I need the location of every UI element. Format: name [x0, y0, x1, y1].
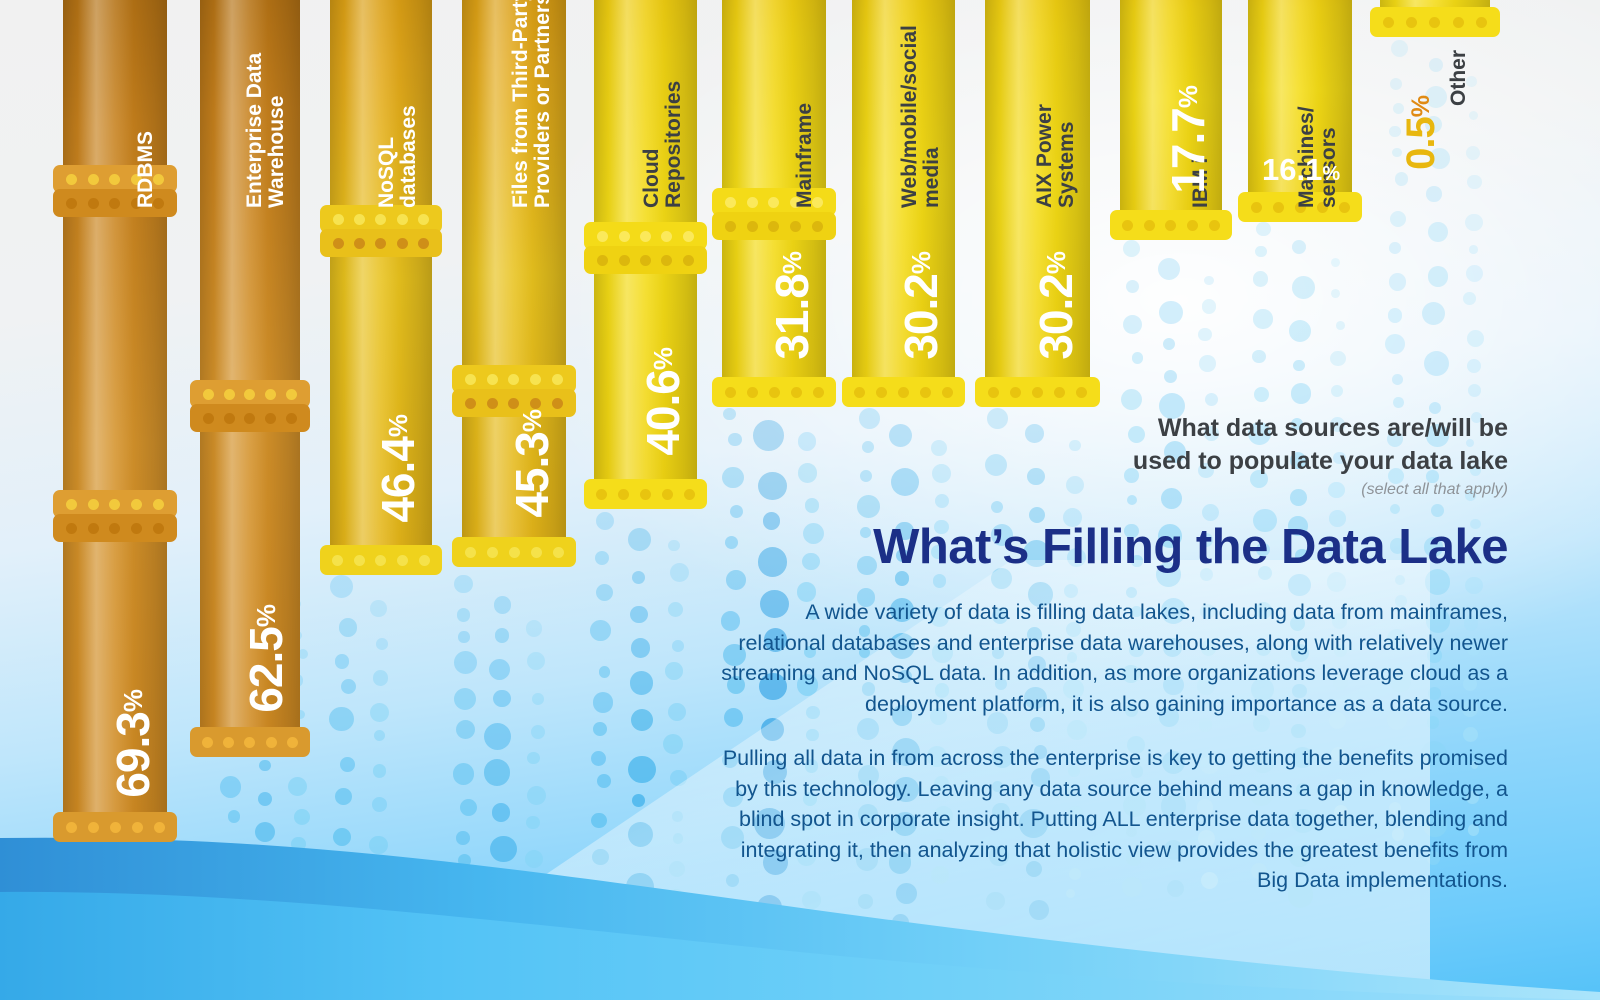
collar-rivet — [265, 389, 276, 400]
flange-rivet — [1032, 387, 1043, 398]
collar-rivet — [286, 413, 297, 424]
collar-rivet — [619, 255, 630, 266]
collar-ring-lower — [584, 246, 707, 274]
flange-rivet — [1076, 387, 1087, 398]
collar-rivet — [88, 174, 99, 185]
collar-rivet — [203, 413, 214, 424]
flange-rivet — [898, 387, 909, 398]
flange-rivet — [791, 387, 802, 398]
collar-rivet — [683, 231, 694, 242]
flange-rivet — [1144, 220, 1155, 231]
collar-rivet — [88, 198, 99, 209]
flange-rivet — [1383, 17, 1394, 28]
kicker-line-1: What data sources are/will be — [718, 412, 1508, 445]
collar-rivet — [747, 197, 758, 208]
collar-rivet — [661, 255, 672, 266]
collar-rivet — [530, 398, 541, 409]
pipe-label-name: Enterprise Data Warehouse — [244, 18, 288, 208]
collar-rivet — [153, 499, 164, 510]
flange-rivet — [110, 822, 121, 833]
body-paragraph-1: A wide variety of data is filling data l… — [718, 597, 1508, 719]
collar-rivet — [725, 221, 736, 232]
flange-rivet — [1273, 202, 1284, 213]
flange-rivet — [332, 555, 343, 566]
collar-rivet — [66, 523, 77, 534]
collar-rivet — [109, 499, 120, 510]
collar-rivet — [109, 174, 120, 185]
pipe-label-value: 17.7% — [1164, 86, 1212, 194]
pipe-end-flange — [190, 727, 310, 757]
collar-rivet — [265, 413, 276, 424]
collar-rivet — [747, 221, 758, 232]
pipe-joint-collar — [190, 380, 310, 432]
flange-rivet — [509, 547, 520, 558]
collar-rivet — [508, 374, 519, 385]
pipe-end-flange — [975, 377, 1100, 407]
pipe-end-flange — [712, 377, 836, 407]
flange-rivet — [553, 547, 564, 558]
collar-rivet — [465, 374, 476, 385]
flange-rivet — [531, 547, 542, 558]
pipe-label-value: 30.2% — [897, 252, 945, 360]
collar-ring-lower — [53, 514, 177, 542]
collar-rivet — [333, 214, 344, 225]
collar-rivet — [354, 214, 365, 225]
collar-rivet — [88, 523, 99, 534]
collar-rivet — [640, 255, 651, 266]
flange-rivet — [88, 822, 99, 833]
collar-ring-lower — [190, 404, 310, 432]
flange-rivet — [354, 555, 365, 566]
collar-rivet — [131, 523, 142, 534]
flange-rivet — [1476, 17, 1487, 28]
flange-rivet — [596, 489, 607, 500]
collar-rivet — [286, 389, 297, 400]
pipe-label-value: 69.3% — [109, 690, 157, 798]
collar-rivet — [597, 255, 608, 266]
pipe-end-flange — [584, 479, 707, 509]
flange-rivet — [1054, 387, 1065, 398]
pipe-joint-collar — [584, 222, 707, 274]
pipe-label-name: Web/mobile/social media — [899, 18, 943, 208]
copy-block: What data sources are/will be used to po… — [718, 412, 1508, 896]
flange-rivet — [244, 737, 255, 748]
pipe-label-value: 46.4% — [374, 415, 422, 523]
collar-rivet — [397, 238, 408, 249]
flange-rivet — [662, 489, 673, 500]
pipe-joint-collar — [53, 490, 177, 542]
collar-rivet — [224, 413, 235, 424]
collar-rivet — [375, 238, 386, 249]
body-paragraph-2: Pulling all data in from across the ente… — [718, 743, 1508, 896]
flange-rivet — [465, 547, 476, 558]
pipe-end-flange — [53, 812, 177, 842]
pipe-label-value: 62.5% — [242, 605, 290, 713]
flange-rivet — [684, 489, 695, 500]
collar-rivet — [66, 174, 77, 185]
pipe-label-value: 31.8% — [768, 252, 816, 360]
flange-rivet — [1122, 220, 1133, 231]
collar-rivet — [552, 374, 563, 385]
pipe-label-name: Cloud Repositories — [641, 18, 685, 208]
pipe-end-flange — [452, 537, 576, 567]
collar-ring-lower — [712, 212, 836, 240]
flange-rivet — [1165, 220, 1176, 231]
flange-rivet — [132, 822, 143, 833]
infographic-canvas: What data sources are/will be used to po… — [0, 0, 1600, 1000]
flange-rivet — [397, 555, 408, 566]
flange-rivet — [920, 387, 931, 398]
flange-rivet — [154, 822, 165, 833]
collar-rivet — [530, 374, 541, 385]
pipe-label-value: 30.2% — [1032, 252, 1080, 360]
flange-rivet — [725, 387, 736, 398]
flange-rivet — [1010, 387, 1021, 398]
pipe-label-value: 16.1% — [1262, 152, 1340, 188]
pipe-label-value: 0.5% — [1400, 96, 1442, 170]
flange-rivet — [988, 387, 999, 398]
flange-rivet — [1251, 202, 1262, 213]
pipe-label-value: 40.6% — [639, 348, 687, 456]
collar-rivet — [487, 398, 498, 409]
page-title: What’s Filling the Data Lake — [718, 519, 1508, 575]
flange-rivet — [1339, 202, 1350, 213]
pipe-joint-collar — [53, 165, 177, 217]
collar-rivet — [768, 221, 779, 232]
kicker-line-2: used to populate your data lake — [718, 445, 1508, 478]
pipe-end-flange — [320, 545, 442, 575]
collar-rivet — [725, 197, 736, 208]
pipe-label-name: NoSQL databases — [376, 18, 420, 208]
collar-rivet — [640, 231, 651, 242]
collar-rivet — [619, 231, 630, 242]
collar-rivet — [418, 214, 429, 225]
pipe-joint-collar — [712, 188, 836, 240]
flange-rivet — [66, 822, 77, 833]
collar-rivet — [244, 413, 255, 424]
flange-rivet — [375, 555, 386, 566]
collar-rivet — [465, 398, 476, 409]
flange-rivet — [487, 547, 498, 558]
flange-rivet — [1209, 220, 1220, 231]
collar-rivet — [597, 231, 608, 242]
kicker-note: (select all that apply) — [718, 481, 1508, 499]
flange-rivet — [747, 387, 758, 398]
collar-rivet — [109, 523, 120, 534]
flange-rivet — [1406, 17, 1417, 28]
collar-rivet — [418, 238, 429, 249]
pipe-label-name: Other — [1448, 26, 1470, 106]
pipe-label-name: Files from Third-Party Data Providers or… — [510, 18, 554, 208]
question-kicker: What data sources are/will be used to po… — [718, 412, 1508, 477]
flange-rivet — [1187, 220, 1198, 231]
pipe-end-flange — [1370, 7, 1500, 37]
collar-rivet — [66, 499, 77, 510]
collar-rivet — [109, 198, 120, 209]
flange-rivet — [854, 387, 865, 398]
collar-rivet — [661, 231, 672, 242]
collar-rivet — [66, 198, 77, 209]
pipe-end-flange — [842, 377, 965, 407]
flange-rivet — [813, 387, 824, 398]
collar-rivet — [354, 238, 365, 249]
pipe-label-value: 45.3% — [508, 410, 556, 518]
collar-rivet — [683, 255, 694, 266]
flange-rivet — [419, 555, 430, 566]
collar-rivet — [508, 398, 519, 409]
collar-rivet — [88, 499, 99, 510]
collar-rivet — [397, 214, 408, 225]
flange-rivet — [1429, 17, 1440, 28]
collar-rivet — [790, 221, 801, 232]
pipe-label-name: RDBMS — [135, 18, 157, 208]
flange-rivet — [287, 737, 298, 748]
collar-rivet — [768, 197, 779, 208]
collar-ring-lower — [53, 189, 177, 217]
collar-rivet — [203, 389, 214, 400]
pipe-11 — [1380, 0, 1490, 25]
collar-rivet — [812, 221, 823, 232]
flange-rivet — [223, 737, 234, 748]
flange-rivet — [640, 489, 651, 500]
collar-rivet — [333, 238, 344, 249]
collar-rivet — [487, 374, 498, 385]
collar-rivet — [224, 389, 235, 400]
flange-rivet — [942, 387, 953, 398]
flange-rivet — [618, 489, 629, 500]
pipe-end-flange — [1110, 210, 1232, 240]
collar-ring-lower — [320, 229, 442, 257]
flange-rivet — [202, 737, 213, 748]
collar-rivet — [244, 389, 255, 400]
collar-rivet — [131, 499, 142, 510]
flange-rivet — [266, 737, 277, 748]
collar-rivet — [375, 214, 386, 225]
collar-rivet — [153, 523, 164, 534]
collar-rivet — [552, 398, 563, 409]
pipe-label-name: AIX Power Systems — [1034, 18, 1078, 208]
flange-rivet — [876, 387, 887, 398]
pipe-joint-collar — [320, 205, 442, 257]
pipe-label-name: Mainframe — [794, 18, 816, 208]
flange-rivet — [769, 387, 780, 398]
